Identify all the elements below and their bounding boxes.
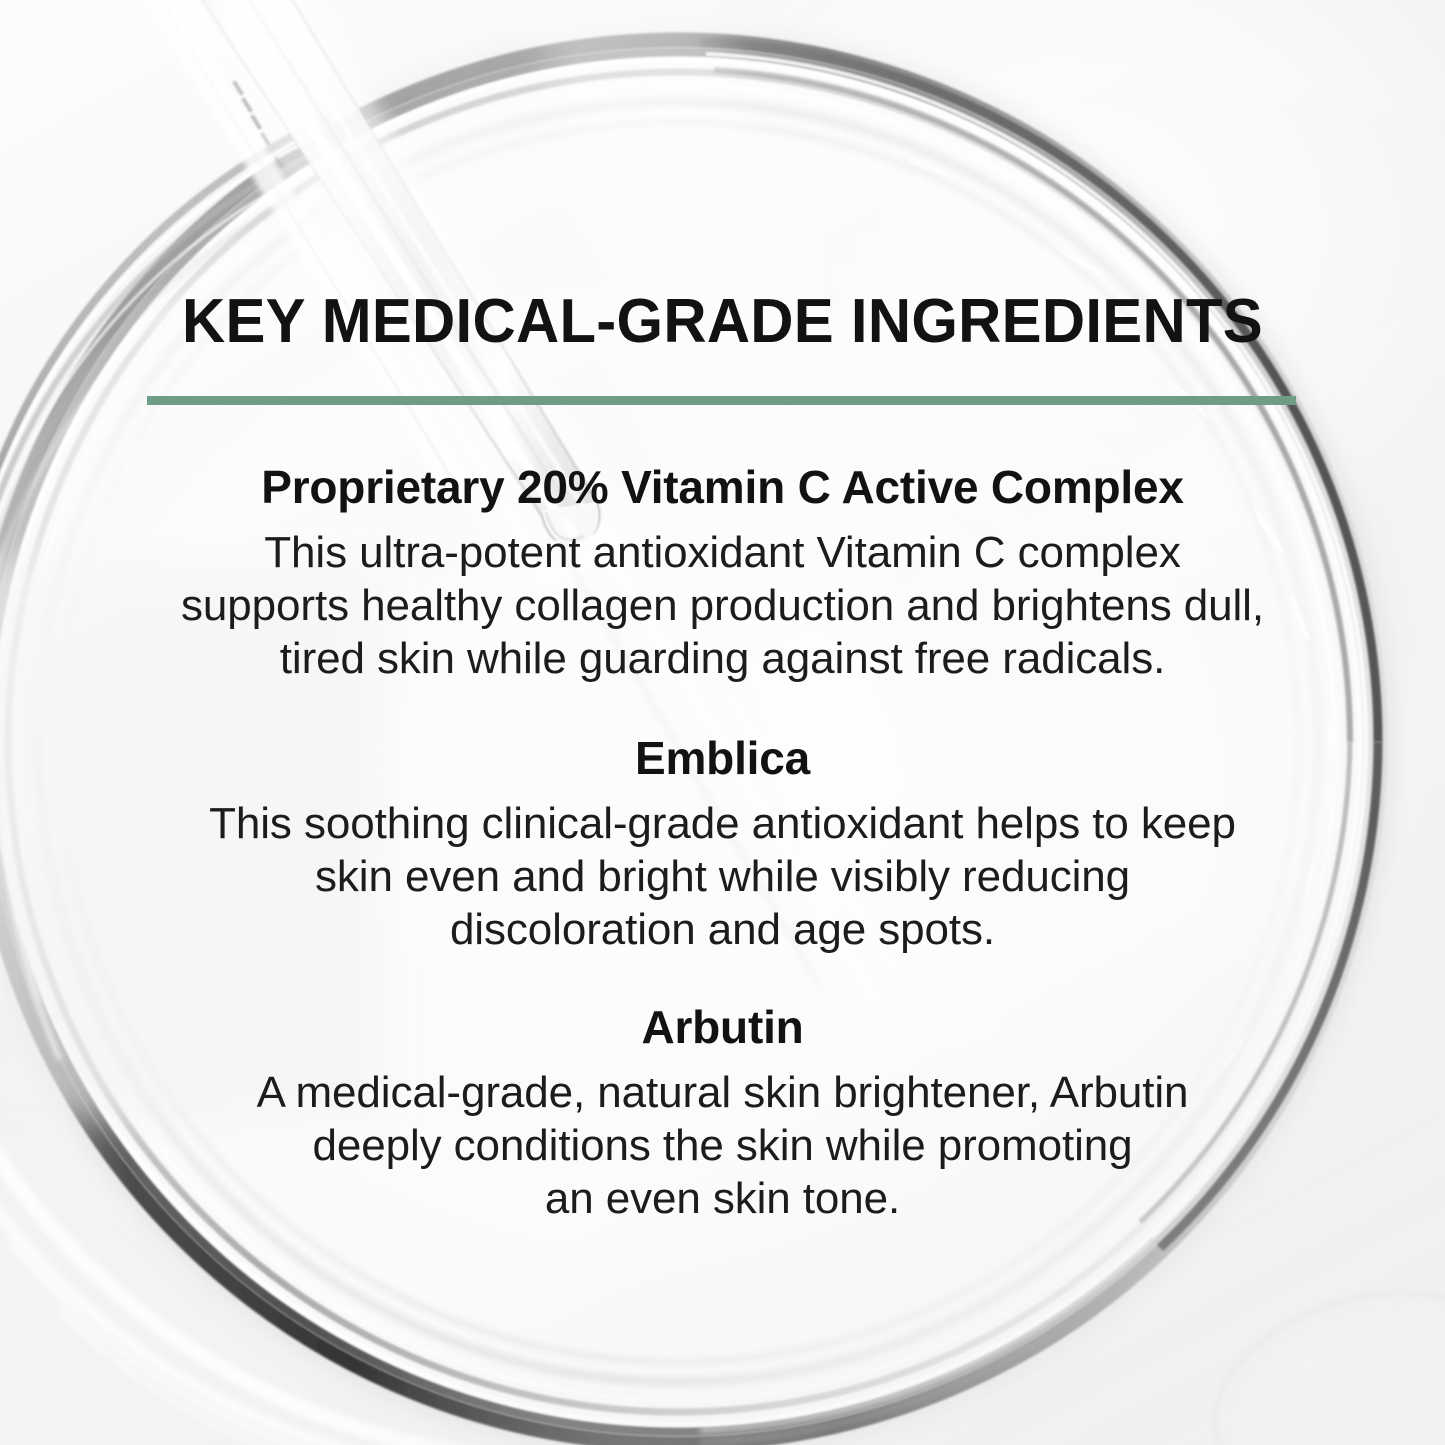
ingredient-section: Arbutin A medical-grade, natural skin br… (0, 956, 1445, 1225)
ingredient-heading: Arbutin (0, 998, 1445, 1056)
title-divider (147, 396, 1296, 405)
body-line: tired skin while guarding against free r… (73, 632, 1373, 685)
ingredient-heading: Proprietary 20% Vitamin C Active Complex (0, 458, 1445, 516)
body-line: an even skin tone. (73, 1172, 1373, 1225)
ingredient-section: Proprietary 20% Vitamin C Active Complex… (0, 440, 1445, 685)
ingredients-graphic: KEY MEDICAL-GRADE INGREDIENTS Proprietar… (0, 0, 1445, 1445)
ingredient-sections: Proprietary 20% Vitamin C Active Complex… (0, 440, 1445, 1225)
page-title: KEY MEDICAL-GRADE INGREDIENTS (25, 286, 1419, 358)
body-line: This ultra-potent antioxidant Vitamin C … (73, 526, 1373, 579)
body-line: deeply conditions the skin while promoti… (73, 1119, 1373, 1172)
body-line: A medical-grade, natural skin brightener… (73, 1066, 1373, 1119)
content-panel: KEY MEDICAL-GRADE INGREDIENTS Proprietar… (0, 0, 1445, 1445)
body-line: discoloration and age spots. (73, 903, 1373, 956)
ingredient-body: A medical-grade, natural skin brightener… (73, 1056, 1373, 1225)
body-line: skin even and bright while visibly reduc… (73, 850, 1373, 903)
ingredient-heading: Emblica (0, 729, 1445, 787)
body-line: This soothing clinical-grade antioxidant… (73, 797, 1373, 850)
ingredient-body: This soothing clinical-grade antioxidant… (73, 787, 1373, 956)
body-line: supports healthy collagen production and… (73, 579, 1373, 632)
ingredient-body: This ultra-potent antioxidant Vitamin C … (73, 516, 1373, 685)
ingredient-section: Emblica This soothing clinical-grade ant… (0, 685, 1445, 956)
